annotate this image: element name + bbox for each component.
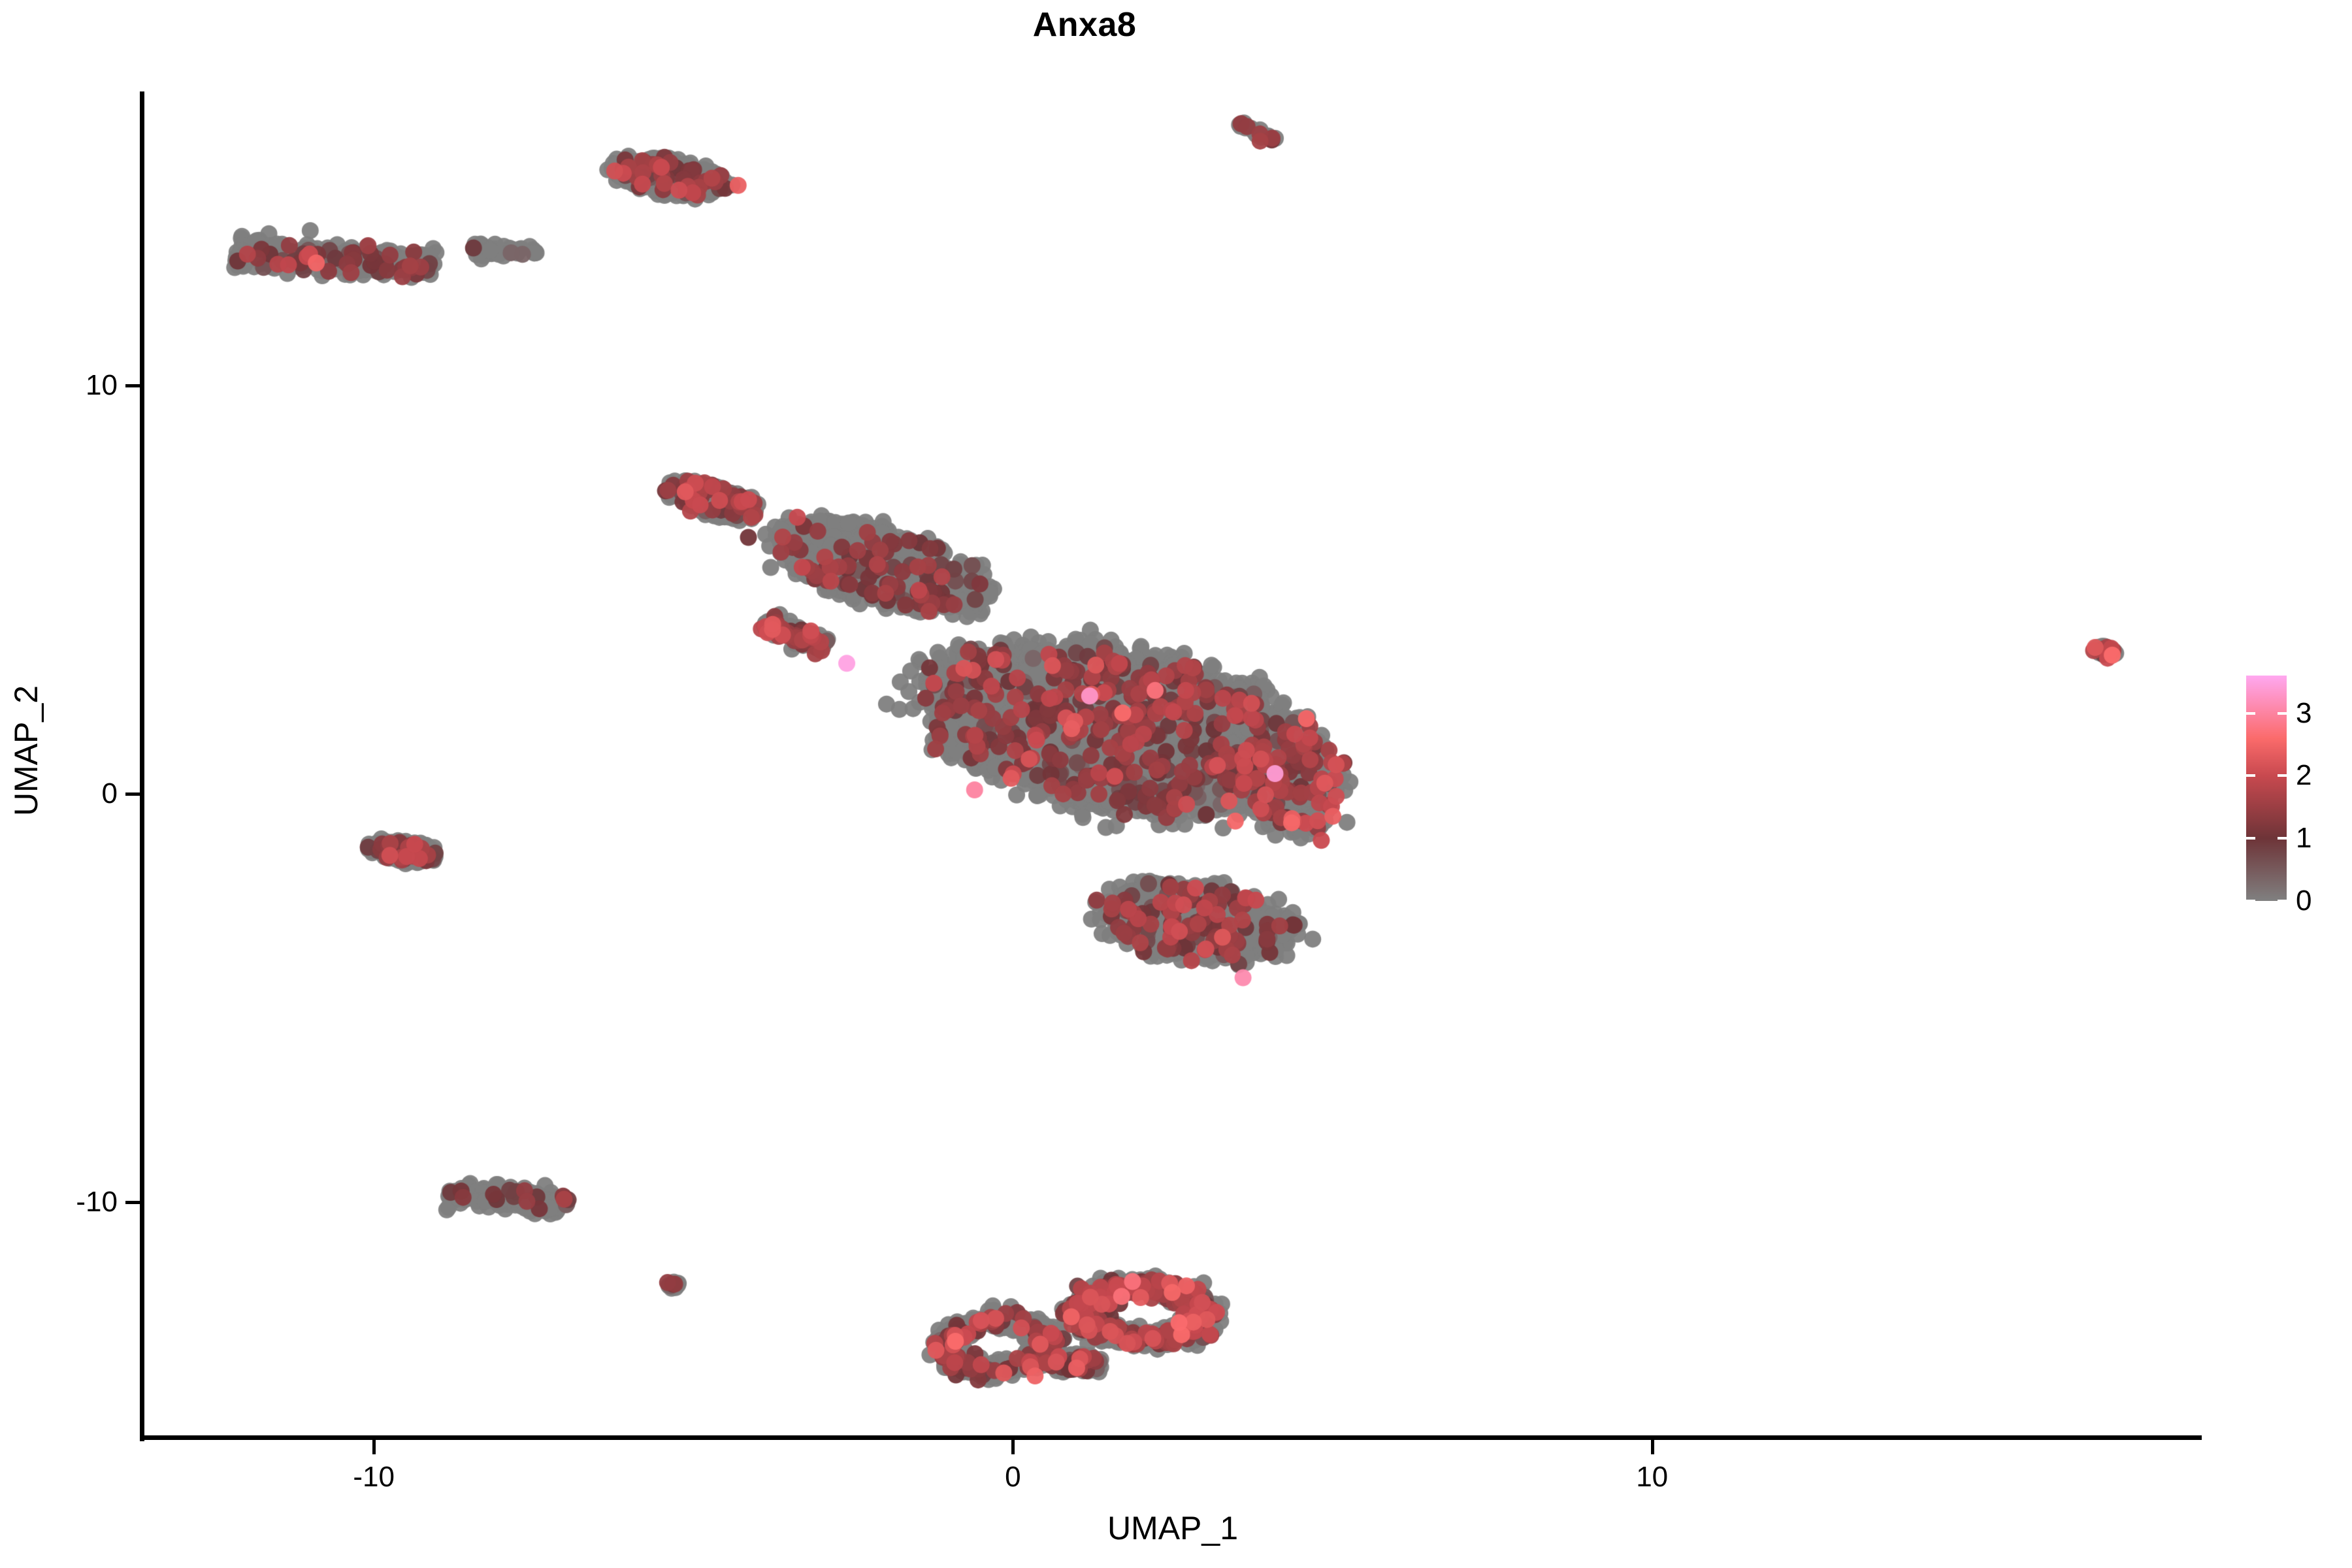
x-tick-mark [1651,1440,1654,1454]
x-tick-mark [372,1440,376,1454]
colorbar-legend: 0123 [2246,676,2344,901]
colorbar-tick-mark [2246,712,2255,715]
x-axis-title: UMAP_1 [144,1509,2202,1547]
y-axis-title: UMAP_2 [7,555,45,947]
colorbar-tick-label: 0 [2296,885,2311,917]
x-axis-line [140,1435,2202,1440]
colorbar-tick-mark [2246,774,2255,777]
colorbar-tick-label: 1 [2296,822,2311,855]
x-tick-label: -10 [353,1461,395,1494]
colorbar-tick-mark [2278,712,2287,715]
colorbar-tick-mark [2278,900,2287,902]
colorbar-tick-label: 2 [2296,759,2311,792]
page-title: Anxa8 [0,5,2169,44]
colorbar-tick-label: 3 [2296,697,2311,730]
y-tick-mark [125,1201,140,1204]
y-axis-line [140,91,144,1441]
y-tick-label: 10 [0,369,118,402]
colorbar-tick-mark [2278,774,2287,777]
x-tick-label: 10 [1636,1461,1668,1494]
colorbar-gradient [2246,676,2287,901]
x-tick-mark [1011,1440,1015,1454]
y-tick-label: -10 [0,1186,118,1218]
colorbar-tick-mark [2278,837,2287,840]
scatter-canvas [144,91,2202,1439]
umap-feature-plot: Anxa8 -10010 -10010 UMAP_1 UMAP_2 0123 [0,0,2352,1568]
plot-panel [144,91,2202,1439]
colorbar-tick-mark [2246,900,2255,902]
colorbar-tick-mark [2246,837,2255,840]
y-tick-mark [125,384,140,387]
y-tick-mark [125,792,140,796]
x-tick-label: 0 [1005,1461,1021,1494]
